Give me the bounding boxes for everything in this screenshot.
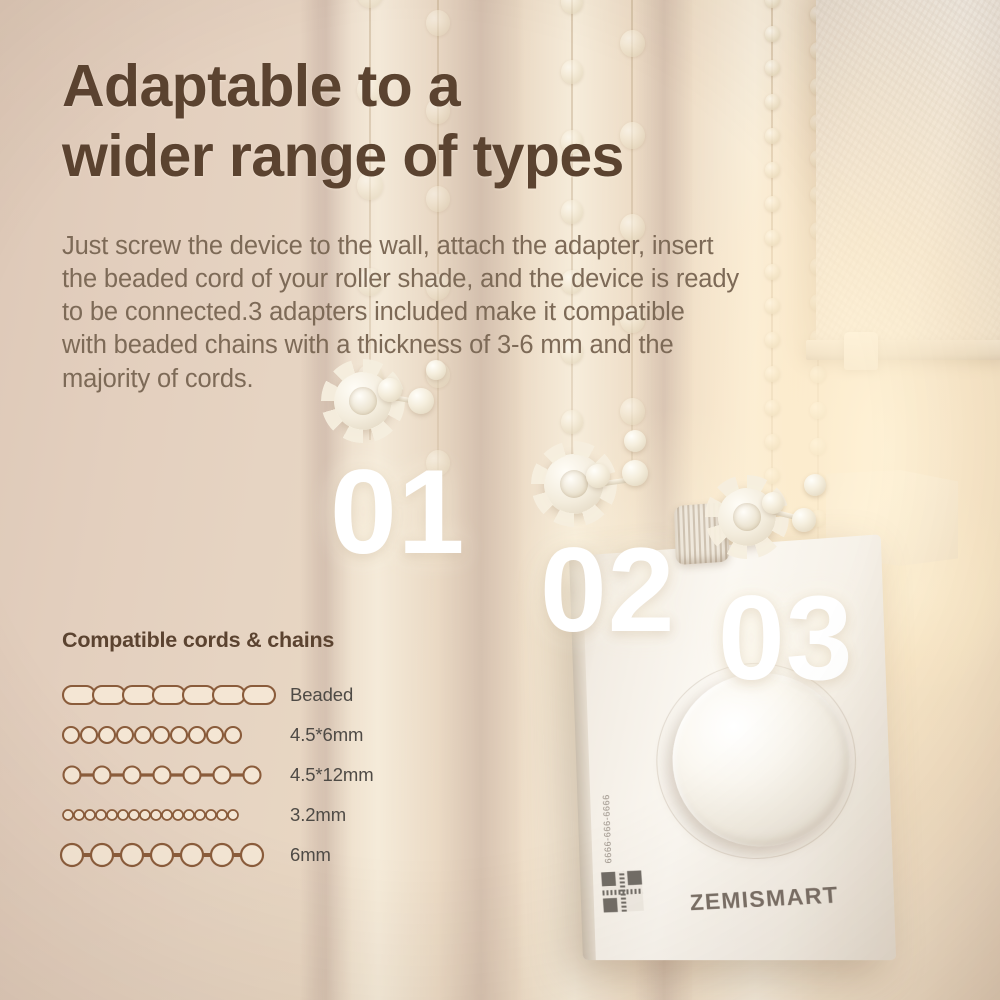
cord-label: 4.5*12mm bbox=[290, 764, 374, 786]
cord-row: 4.5*6mm bbox=[62, 715, 482, 754]
brand-logo-text: ZEMISMART bbox=[689, 882, 840, 917]
description-line-3: to be connected.3 adapters included make… bbox=[62, 296, 922, 329]
description-paragraph: Just screw the device to the wall, attac… bbox=[62, 230, 922, 396]
description-line-2: the beaded cord of your roller shade, an… bbox=[62, 263, 922, 296]
qr-code bbox=[601, 870, 644, 912]
cord-label: Beaded bbox=[290, 684, 353, 706]
step-number-03: 03 bbox=[718, 578, 853, 698]
cord-row: Beaded bbox=[62, 675, 482, 714]
step-number-01: 01 bbox=[330, 452, 465, 572]
round-bead-chain-icon bbox=[62, 720, 277, 750]
fine-bead-chain-icon bbox=[62, 800, 277, 830]
cord-row: 6mm bbox=[62, 835, 482, 874]
cord-label: 4.5*6mm bbox=[290, 724, 363, 746]
device-serial-text: 6666-666-6666 bbox=[601, 794, 613, 863]
compatible-cords-title: Compatible cords & chains bbox=[62, 628, 482, 653]
description-line-1: Just screw the device to the wall, attac… bbox=[62, 230, 922, 263]
step-number-02: 02 bbox=[540, 530, 675, 650]
capsule-chain-icon bbox=[62, 680, 277, 710]
cord-label: 6mm bbox=[290, 844, 331, 866]
spaced-bead-chain-icon bbox=[62, 760, 277, 790]
page-title: Adaptable to a wider range of types bbox=[62, 52, 762, 191]
description-line-5: majority of cords. bbox=[62, 363, 922, 396]
headline-line-2: wider range of types bbox=[62, 122, 762, 192]
cord-row: 3.2mm bbox=[62, 795, 482, 834]
compatible-cords-panel: Compatible cords & chains Beaded bbox=[62, 628, 482, 875]
cord-label: 3.2mm bbox=[290, 804, 346, 826]
cord-row: 4.5*12mm bbox=[62, 755, 482, 794]
adapter-socket bbox=[674, 502, 730, 565]
large-bead-chain-icon bbox=[62, 840, 277, 870]
description-line-4: with beaded chains with a thickness of 3… bbox=[62, 329, 922, 362]
headline-line-1: Adaptable to a bbox=[62, 52, 762, 122]
product-banner: 6666-666-6666 ZEMISMART Adaptable to a w… bbox=[0, 0, 1000, 1000]
